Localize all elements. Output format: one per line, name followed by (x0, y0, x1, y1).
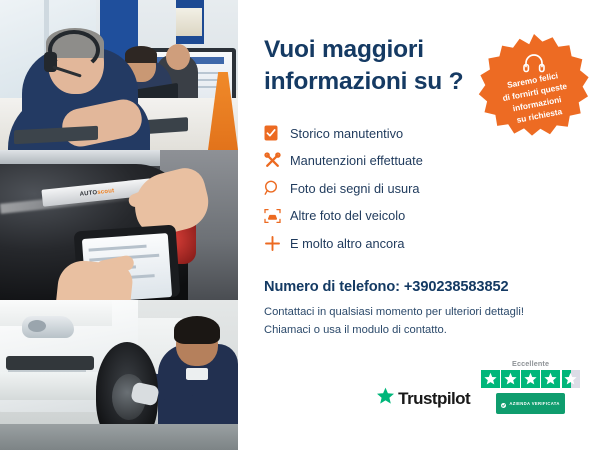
trustpilot-logo[interactable]: Trustpilot (376, 387, 470, 414)
feature-label: Manutenzioni effettuate (290, 153, 423, 168)
contact-subtext-line2: Chiamaci o usa il modulo di contatto. (264, 322, 578, 339)
call-center-agent-photo (0, 0, 238, 150)
promo-card: AUTOscout (0, 0, 600, 450)
mechanic-wheel-photo (0, 300, 238, 450)
star-filled-3 (521, 370, 540, 389)
car-scan-frame-icon (264, 208, 290, 224)
trustpilot-brand-name: Trustpilot (398, 389, 470, 409)
feature-label: Foto dei segni di usura (290, 181, 419, 196)
star-half-5 (562, 370, 581, 389)
feature-label: E molto altro ancora (290, 236, 405, 251)
star-filled-4 (541, 370, 560, 389)
trustpilot-widget[interactable]: Trustpilot Eccellente (376, 359, 580, 415)
feature-item-altre-foto: Altre foto del veicolo (264, 202, 578, 230)
phone-number-line: Numero di telefono: +390238583852 (264, 279, 578, 295)
verified-check-icon (501, 395, 506, 413)
trustpilot-rating-label: Eccellente (512, 359, 549, 368)
callout-badge: Saremo felici di fornirti queste informa… (478, 32, 590, 144)
star-filled-2 (501, 370, 520, 389)
magnifier-icon (264, 180, 290, 196)
content-panel: Vuoi maggiori informazioni su ? Storico … (238, 0, 600, 450)
verified-label: AZIENDA VERIFICATA (509, 401, 559, 406)
plus-icon (264, 235, 290, 252)
photo-column: AUTOscout (0, 0, 238, 450)
crossed-tools-icon (264, 152, 290, 169)
contact-subtext: Contattaci in qualsiasi momento per ulte… (264, 304, 578, 339)
star-filled-1 (481, 370, 500, 389)
feature-item-altro: E molto altro ancora (264, 230, 578, 258)
trustpilot-rating: Eccellente (481, 359, 580, 415)
feature-label: Altre foto del veicolo (290, 208, 405, 223)
feature-item-foto-usura: Foto dei segni di usura (264, 175, 578, 203)
contact-subtext-line1: Contattaci in qualsiasi momento per ulte… (264, 304, 578, 321)
feature-item-manutenzioni: Manutenzioni effettuate (264, 147, 578, 175)
trustpilot-stars (481, 370, 580, 389)
star-icon (376, 387, 395, 410)
clipboard-check-icon (264, 125, 290, 141)
verified-badge: AZIENDA VERIFICATA (496, 393, 564, 414)
callout-badge-text: Saremo felici di fornirti queste informa… (468, 22, 599, 153)
vehicle-inspection-photo: AUTOscout (0, 150, 238, 300)
feature-label: Storico manutentivo (290, 126, 403, 141)
